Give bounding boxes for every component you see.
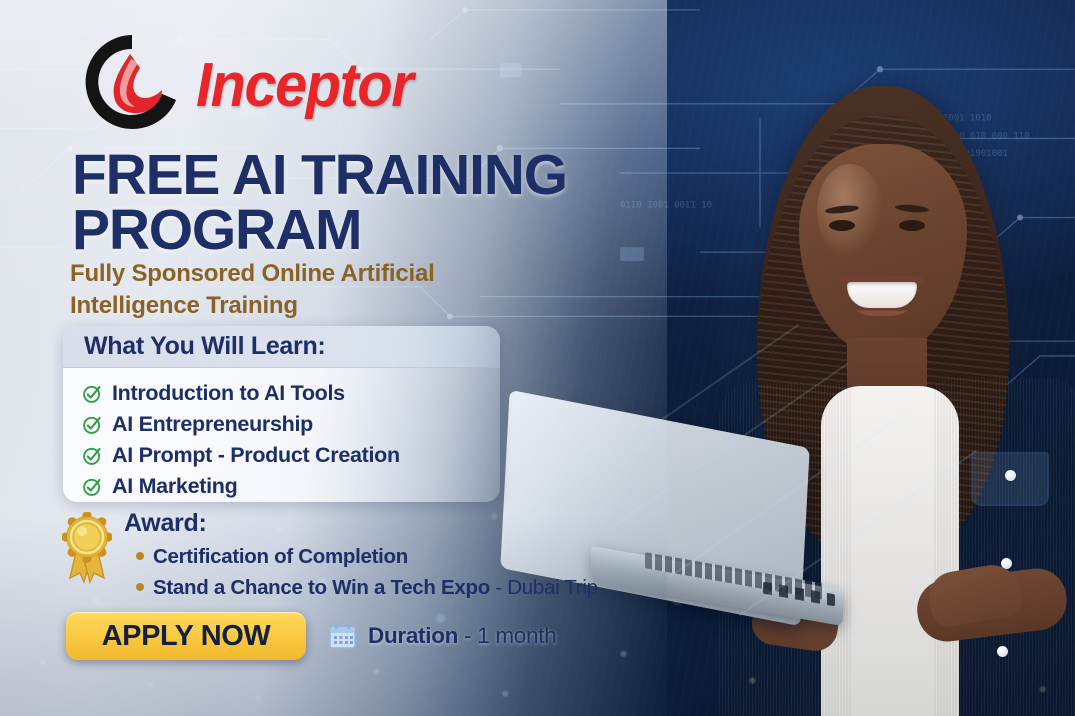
award-title: Award: [124, 510, 598, 538]
list-item: AI Entrepreneurship [82, 409, 500, 440]
page-title: FREE AI TRAINING PROGRAM [72, 148, 632, 257]
brand-wordmark: Inceptor [196, 55, 412, 117]
card-title: What You Will Learn: [84, 332, 325, 361]
award-item-label: Stand a Chance to Win a Tech Expo - Duba… [153, 576, 598, 600]
check-circle-icon [82, 445, 103, 466]
list-item-label: AI Entrepreneurship [112, 412, 313, 437]
apply-now-button[interactable]: APPLY NOW [66, 612, 306, 660]
list-item-label: AI Marketing [112, 474, 237, 499]
brand-logo[interactable]: Inceptor [78, 28, 429, 136]
award-medal-icon [62, 512, 112, 586]
bullet-icon [136, 552, 144, 560]
learn-list: Introduction to AI Tools AI Entrepreneur… [63, 368, 500, 502]
award-list-item: Stand a Chance to Win a Tech Expo - Duba… [124, 576, 598, 600]
duration-label: Duration - 1 month [368, 623, 556, 649]
flame-circle-logo-icon [78, 28, 186, 136]
award-section: Award: Certification of Completion Stand… [62, 508, 602, 600]
cta-row: APPLY NOW [66, 612, 556, 660]
duration-value: - 1 month [458, 623, 556, 648]
calendar-icon [328, 622, 357, 651]
check-circle-icon [82, 414, 103, 435]
award-item-suffix: - Dubai Trip [490, 576, 598, 599]
duration-info: Duration - 1 month [328, 622, 556, 651]
award-list-item: Certification of Completion [124, 545, 598, 569]
promotional-banner: 10110 01001 1010 909 100 010 610 600 110… [0, 0, 1075, 716]
card-header: What You Will Learn: [63, 326, 500, 368]
list-item-label: AI Prompt - Product Creation [112, 443, 400, 468]
bullet-icon [136, 583, 144, 591]
list-item-label: Introduction to AI Tools [112, 381, 345, 406]
list-item: AI Prompt - Product Creation [82, 440, 500, 471]
check-circle-icon [82, 476, 103, 497]
list-item: AI Marketing [82, 471, 500, 502]
award-item-label: Certification of Completion [153, 545, 408, 569]
list-item: Introduction to AI Tools [82, 378, 500, 409]
check-circle-icon [82, 383, 103, 404]
what-you-will-learn-card: What You Will Learn: Introduction to AI … [63, 326, 500, 502]
subheadline: Fully Sponsored Online Artificial Intell… [70, 258, 500, 321]
headline-line-2: PROGRAM [72, 203, 632, 258]
